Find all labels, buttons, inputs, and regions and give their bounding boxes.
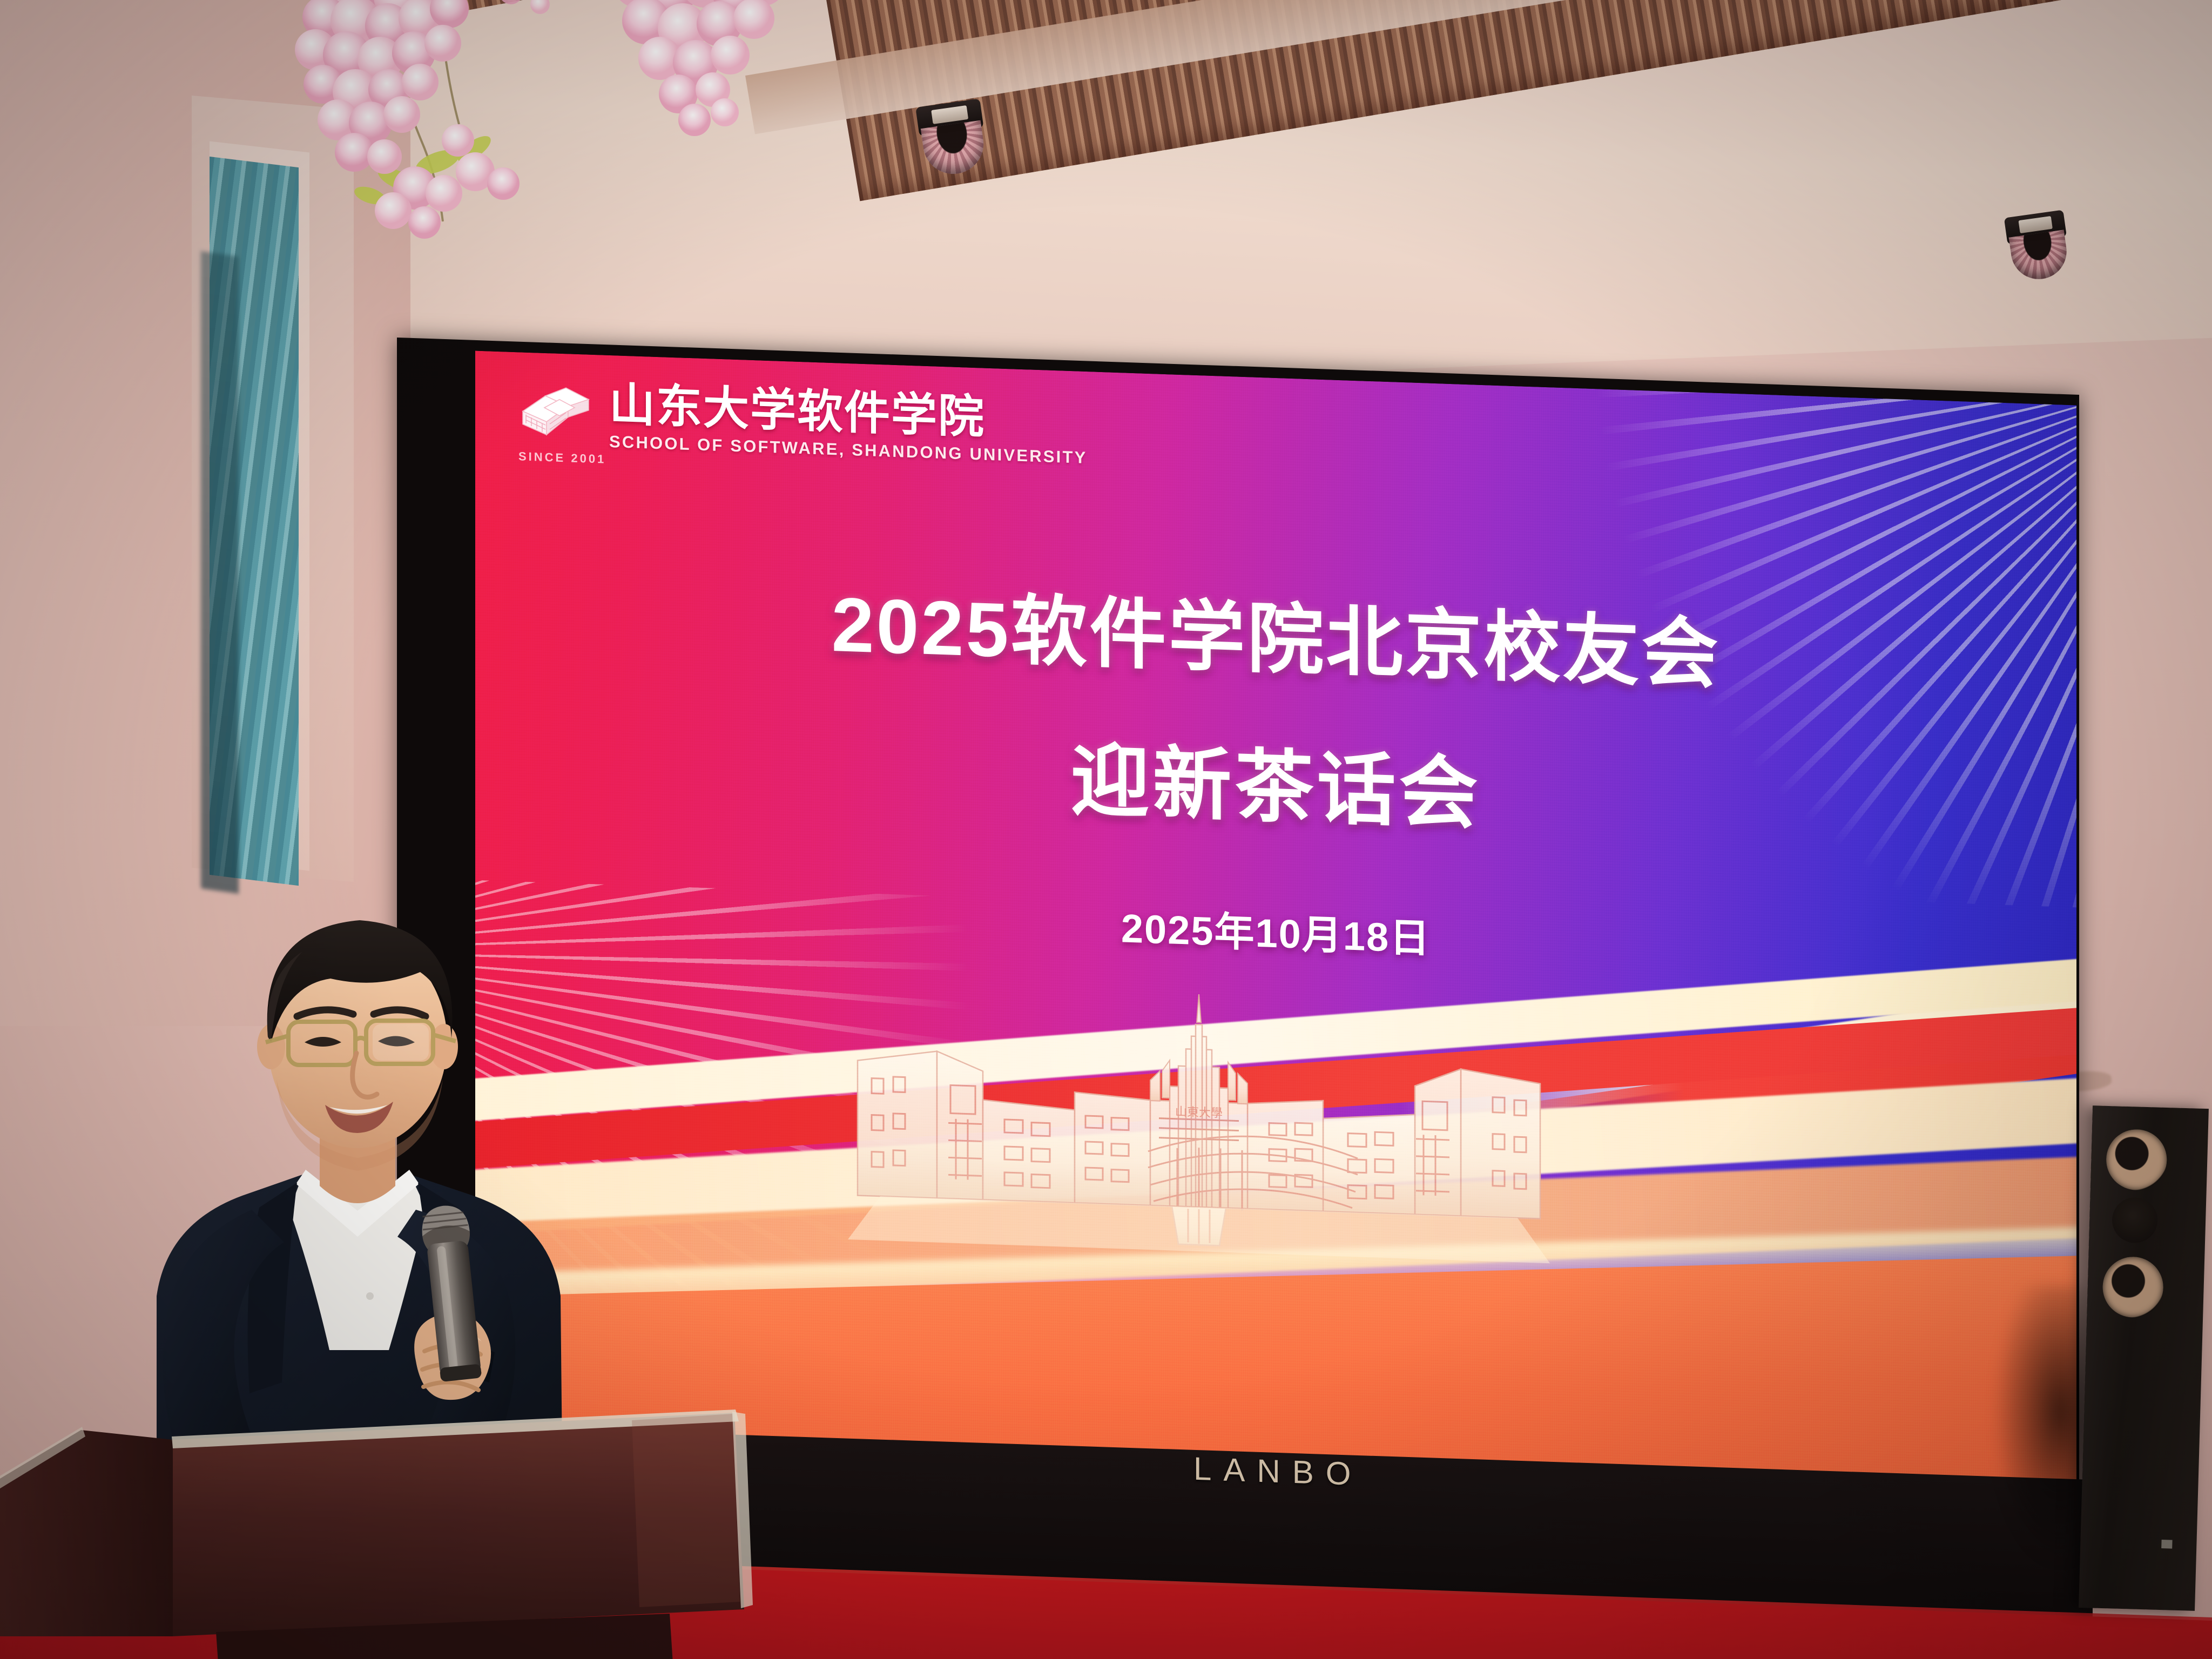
led-pixel-grain	[475, 351, 2076, 1502]
display-brand-label: LANBO	[1193, 1450, 1363, 1493]
light-dome	[2009, 230, 2071, 282]
speaker-driver-top	[2106, 1129, 2168, 1191]
speaker-power-led	[2161, 1540, 2172, 1549]
podium	[0, 1382, 788, 1659]
speaker-driver-bottom	[2102, 1256, 2164, 1318]
curtain-shadow	[201, 251, 239, 894]
cherry-blossom-decoration	[259, 0, 929, 313]
speaker-driver-mid	[2112, 1197, 2158, 1243]
photo-scene: 山東大學	[0, 0, 2212, 1659]
led-screen: 山東大學	[475, 351, 2076, 1502]
party-ball-light	[1997, 208, 2080, 285]
light-dome	[921, 120, 988, 178]
floor-standing-speaker	[2079, 1105, 2209, 1611]
